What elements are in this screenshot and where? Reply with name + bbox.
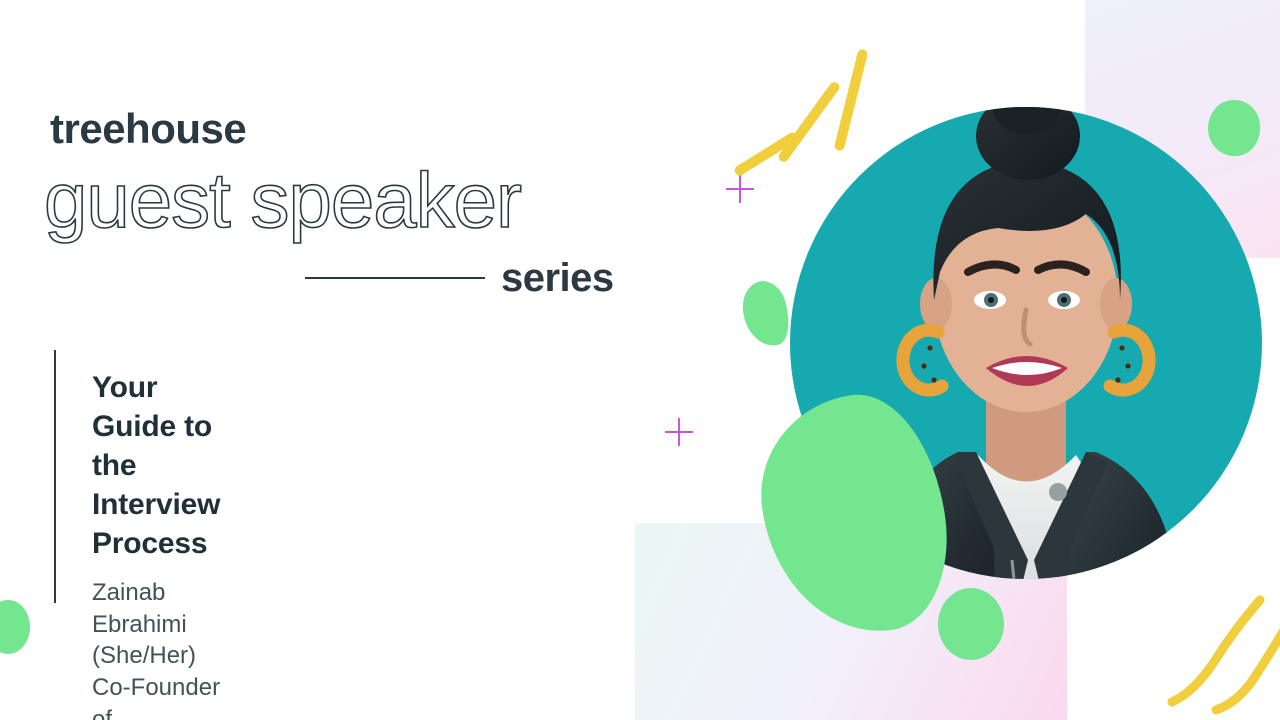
magenta-plus-icon: [726, 175, 754, 203]
series-divider-rule: [305, 277, 485, 279]
speaker-role: Co-Founder of Florish.Tech: [92, 672, 221, 720]
headline-guest-speaker: guest speaker: [44, 160, 521, 242]
event-accent-rule: [54, 350, 56, 603]
speaker-name: Zainab Ebrahimi (She/Her): [92, 577, 221, 672]
series-label: series: [501, 258, 614, 298]
yellow-wave-icon: [1168, 596, 1280, 714]
green-blob-icon: [938, 588, 1004, 660]
magenta-plus-icon: [665, 418, 693, 446]
green-blob-icon: [736, 276, 796, 352]
promo-slide: treehouse guest speaker series Your Guid…: [0, 0, 1280, 720]
series-row: series: [305, 258, 614, 298]
brand-wordmark: treehouse: [50, 108, 246, 150]
event-body: Your Guide to the Interview Process Zain…: [92, 368, 221, 720]
event-title: Your Guide to the Interview Process: [92, 368, 221, 563]
green-blob-icon: [0, 600, 30, 654]
